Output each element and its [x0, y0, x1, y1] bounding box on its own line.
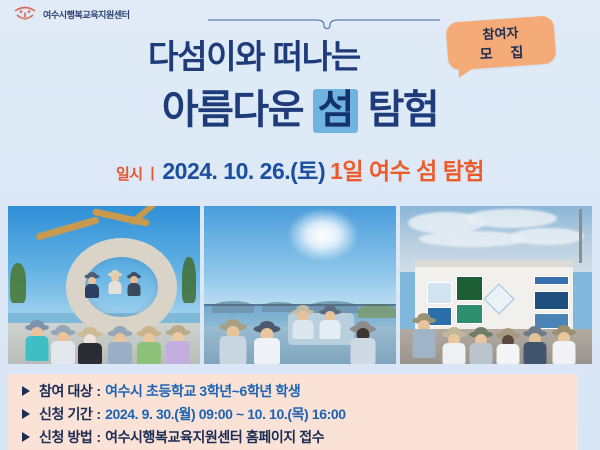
info-row-period: 신청 기간 : 2024. 9. 30.(월) 09:00 ~ 10. 10.(… [22, 402, 578, 425]
poster-title-line-2: 아름다운 섬 탐험 [0, 88, 600, 133]
date-label: 일시 [116, 166, 143, 183]
bullet-triangle-icon [22, 409, 30, 419]
info-label-method: 신청 방법 [39, 427, 92, 447]
bullet-triangle-icon [22, 386, 30, 396]
date-separator: ㅣ [146, 166, 160, 183]
poster-root: 여수시행복교육지원센터 참여자 모 집 다섬이와 떠나는 아름다운 섬 탐험 일… [0, 0, 600, 450]
title-post: 탐험 [358, 88, 438, 132]
title-highlight-word: 섬 [313, 89, 358, 133]
organization-logo: 여수시행복교육지원센터 [12, 4, 130, 24]
event-date-value: 2024. 10. 26.(토) [162, 158, 325, 184]
photo-village-mural [400, 206, 592, 364]
info-sep-method: : [96, 429, 101, 445]
event-date-tail: 1일 여수 섬 탐험 [330, 158, 484, 184]
organization-name: 여수시행복교육지원센터 [43, 8, 130, 21]
info-panel: 참여 대상 : 여수시 초등학교 3학년~6학년 학생 신청 기간 : 2024… [8, 374, 578, 450]
photo-monument-group [8, 206, 200, 364]
looped-line-divider-icon [208, 17, 440, 31]
photo-ocean-viewpoint [204, 206, 396, 364]
photo-strip [8, 206, 592, 364]
info-value-target: 여수시 초등학교 3학년~6학년 학생 [105, 381, 300, 401]
info-row-method: 신청 방법 : 여수시행복교육지원센터 홈페이지 접수 [22, 425, 578, 448]
bullet-triangle-icon [22, 432, 30, 442]
info-row-target: 참여 대상 : 여수시 초등학교 3학년~6학년 학생 [22, 379, 578, 402]
smiling-face-emblem-icon [12, 6, 38, 23]
info-label-target: 참여 대상 [39, 381, 92, 401]
info-sep-target: : [96, 383, 101, 399]
info-label-period: 신청 기간 [39, 404, 92, 424]
event-date-line: 일시ㅣ2024. 10. 26.(토)1일 여수 섬 탐험 [0, 160, 600, 183]
info-sep-period: : [96, 406, 101, 422]
title-pre: 아름다운 [162, 88, 313, 132]
info-value-period: 2024. 9. 30.(월) 09:00 ~ 10. 10.(목) 16:00 [105, 404, 346, 424]
poster-title-line-1: 다섬이와 떠나는 [0, 40, 600, 73]
info-value-method: 여수시행복교육지원센터 홈페이지 접수 [105, 427, 324, 447]
